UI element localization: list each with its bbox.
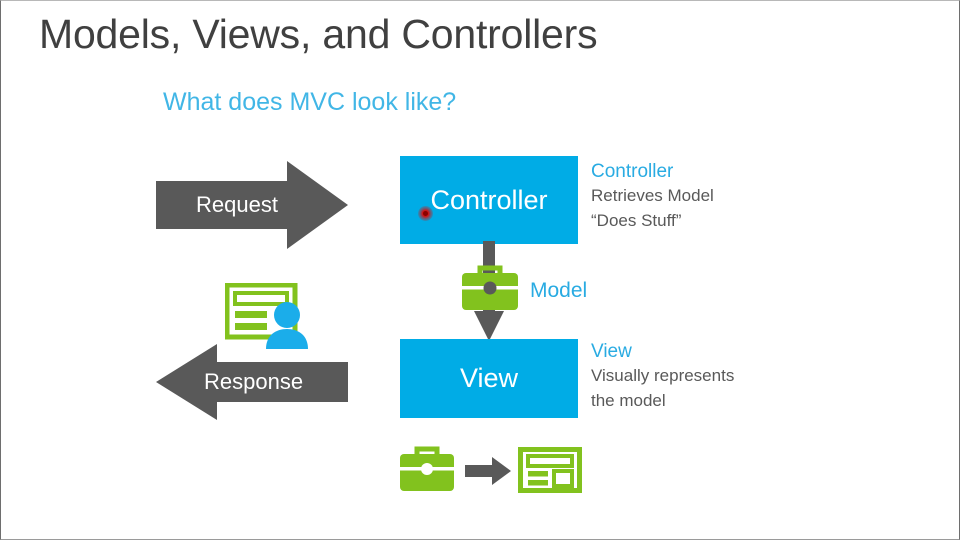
view-box-label: View — [460, 363, 518, 394]
response-arrow: Response — [156, 344, 348, 420]
view-callout-heading: View — [591, 340, 734, 363]
controller-callout-heading: Controller — [591, 160, 714, 183]
briefcase-icon — [460, 264, 520, 312]
webpage-person-icon — [225, 283, 317, 349]
arrow-right-icon — [465, 457, 511, 485]
response-arrow-label: Response — [204, 369, 303, 395]
slide-canvas: Models, Views, and Controllers What does… — [0, 0, 960, 540]
controller-callout-line-1: Retrieves Model — [591, 183, 714, 208]
request-arrow-label: Request — [196, 192, 278, 218]
page-title: Models, Views, and Controllers — [39, 11, 597, 58]
view-callout-line-1: Visually represents — [591, 363, 734, 388]
model-label: Model — [530, 279, 587, 303]
view-callout-line-2: the model — [591, 388, 734, 413]
briefcase-icon — [398, 445, 456, 493]
view-callout: View Visually represents the model — [591, 340, 734, 413]
webpage-icon — [518, 447, 582, 493]
slide-subtitle: What does MVC look like? — [163, 88, 456, 117]
controller-box[interactable]: Controller — [400, 156, 578, 244]
view-box[interactable]: View — [400, 339, 578, 418]
controller-box-label: Controller — [430, 185, 547, 216]
controller-callout: Controller Retrieves Model “Does Stuff” — [591, 160, 714, 233]
request-arrow: Request — [156, 161, 348, 249]
controller-callout-line-2: “Does Stuff” — [591, 208, 714, 233]
